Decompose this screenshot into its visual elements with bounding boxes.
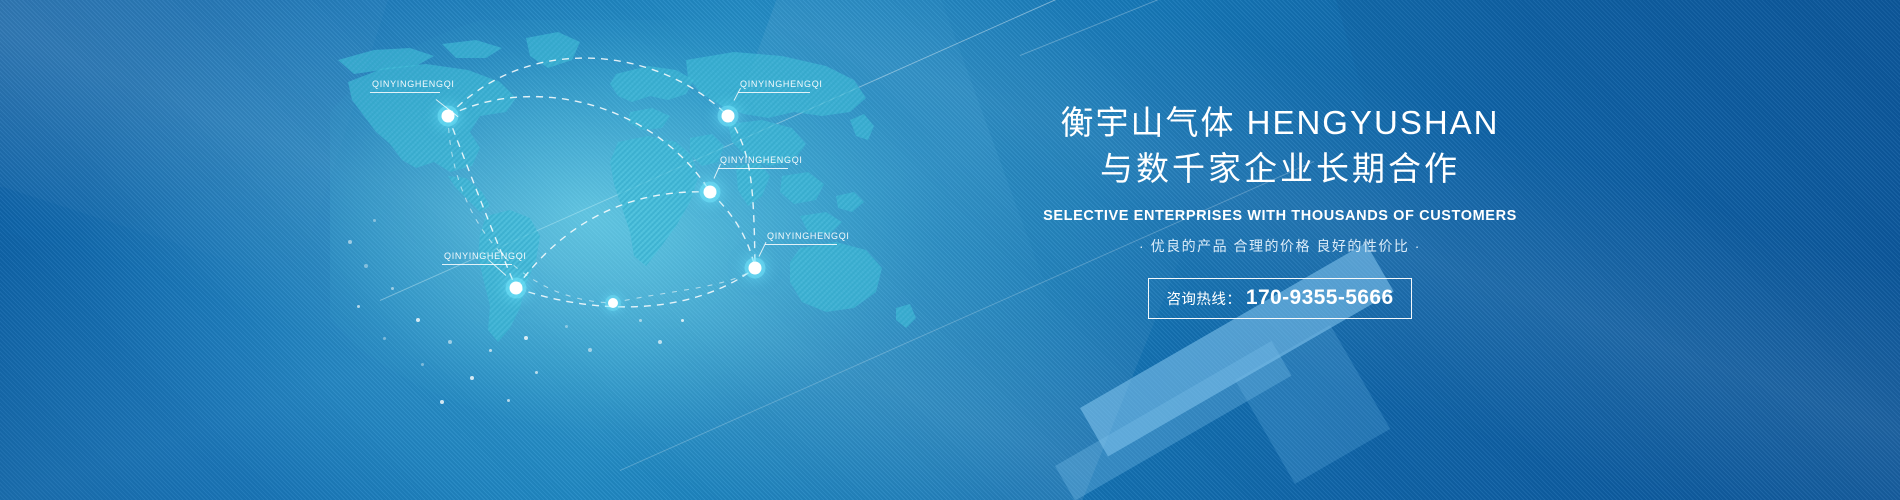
map-label-text: QINYINGHENGQI	[442, 250, 527, 262]
map-node-indian-ocean[interactable]	[608, 298, 618, 308]
map-label-east-asia: QINYINGHENGQI	[718, 154, 803, 169]
headline-subtitle: SELECTIVE ENTERPRISES WITH THOUSANDS OF …	[930, 208, 1630, 224]
sparkle-dot	[357, 305, 360, 308]
sparkle-dot	[681, 319, 684, 322]
sparkle-dot	[391, 287, 394, 290]
sparkle-dot	[416, 318, 420, 322]
hotline-label: 咨询热线：	[1166, 292, 1241, 308]
headline-line-1: 衡宇山气体 HENGYUSHAN	[930, 100, 1630, 146]
sparkle-dot	[658, 340, 662, 344]
map-label-underline	[718, 168, 788, 169]
sparkle-dot	[524, 336, 528, 340]
map-label-europe: QINYINGHENGQI	[738, 78, 823, 93]
headline-line-2: 与数千家企业长期合作	[930, 146, 1630, 192]
hotline-number: 170-9355-5666	[1246, 286, 1394, 309]
map-label-underline	[442, 264, 512, 265]
sparkle-dot	[348, 240, 352, 244]
map-label-north-america: QINYINGHENGQI	[370, 78, 455, 93]
sparkle-dot	[489, 349, 492, 352]
map-label-text: QINYINGHENGQI	[370, 78, 455, 90]
sparkle-dot	[470, 376, 474, 380]
hotline-box[interactable]: 咨询热线： 170-9355-5666	[1148, 278, 1411, 319]
sparkle-dot	[421, 363, 424, 366]
hero-copy: 衡宇山气体 HENGYUSHAN 与数千家企业长期合作 SELECTIVE EN…	[930, 100, 1630, 319]
map-label-underline	[765, 244, 837, 245]
map-label-oceania: QINYINGHENGQI	[765, 230, 850, 245]
decorative-bar-2	[1055, 341, 1292, 500]
sparkle-dot	[383, 337, 386, 340]
sparkle-dot	[639, 319, 642, 322]
sparkle-dot	[565, 325, 568, 328]
map-label-text: QINYINGHENGQI	[738, 78, 823, 90]
headline-tagline: · 优良的产品 合理的价格 良好的性价比 ·	[930, 236, 1630, 256]
sparkle-dot	[535, 371, 538, 374]
decorative-bar-3	[1235, 325, 1390, 484]
sparkle-dot	[364, 264, 368, 268]
map-node-east-asia[interactable]	[704, 186, 717, 199]
sparkle-dot	[588, 348, 592, 352]
map-label-text: QINYINGHENGQI	[765, 230, 850, 242]
world-map: QINYINGHENGQI QINYINGHENGQI QINYINGHENGQ…	[330, 20, 970, 440]
map-label-text: QINYINGHENGQI	[718, 154, 803, 166]
map-node-europe[interactable]	[722, 110, 735, 123]
map-node-oceania[interactable]	[749, 262, 762, 275]
sparkle-dot	[373, 219, 376, 222]
sparkle-dot	[448, 340, 452, 344]
map-label-underline	[738, 92, 810, 93]
sparkle-dot	[507, 399, 510, 402]
sparkle-dot	[440, 400, 444, 404]
map-label-underline	[370, 92, 440, 93]
hairline-diagonal-3	[1020, 0, 1540, 56]
hero-banner: QINYINGHENGQI QINYINGHENGQI QINYINGHENGQ…	[0, 0, 1900, 500]
map-label-south-america: QINYINGHENGQI	[442, 250, 527, 265]
map-node-south-america[interactable]	[510, 282, 523, 295]
